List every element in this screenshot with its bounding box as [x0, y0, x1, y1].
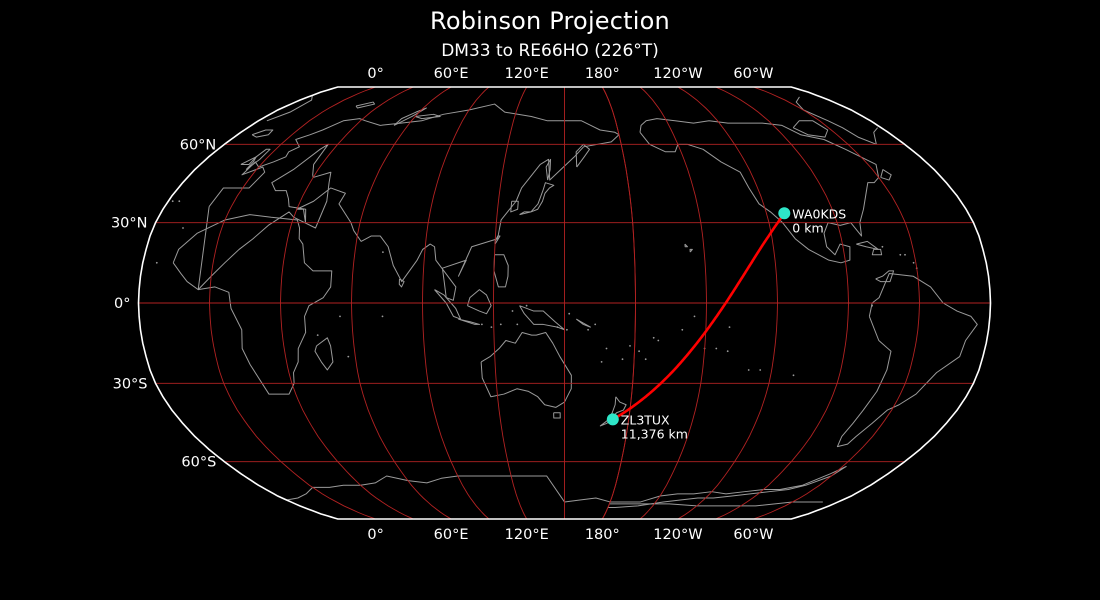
island-speck: [178, 200, 180, 202]
bottom-tick-label-2: 180°: [585, 527, 620, 543]
island-speck: [882, 246, 884, 248]
island-speck: [638, 350, 640, 352]
left-tick-label-4: 60°S: [181, 455, 216, 471]
island-speck: [491, 326, 493, 328]
coastline-3: [874, 128, 878, 145]
top-tick-label-0: 60°E: [434, 66, 469, 82]
island-speck: [568, 313, 570, 315]
bottom-tick-label-1: 120°E: [505, 527, 549, 543]
island-speck: [681, 329, 683, 331]
island-speck: [182, 227, 184, 229]
coastline-17: [876, 271, 894, 282]
island-speck: [899, 254, 901, 256]
left-tick-label-1: 30°N: [111, 216, 148, 232]
marker-wa0kds[interactable]: [778, 207, 790, 219]
island-speck: [557, 326, 559, 328]
coastline-9: [435, 290, 461, 319]
island-speck: [759, 369, 761, 371]
island-speck: [516, 324, 518, 326]
bottom-tick-label-3: 120°W: [653, 527, 702, 543]
island-speck: [317, 334, 319, 336]
island-speck: [339, 316, 341, 318]
top-tick-label-2: 180°: [585, 66, 620, 82]
coastline-4: [252, 130, 273, 137]
coastline-12: [520, 306, 565, 330]
coastline-2: [198, 104, 619, 300]
coastline-8: [494, 255, 508, 287]
coastline-7: [520, 183, 554, 215]
marker-zl3tux-distance: 11,376 km: [621, 426, 688, 441]
island-speck: [587, 329, 589, 331]
left-tick-label-0: 60°N: [180, 137, 217, 153]
island-speck: [653, 337, 655, 339]
bottom-tick-label-5: 0°: [367, 527, 383, 543]
coastline-14: [554, 413, 561, 418]
island-speck: [629, 345, 631, 347]
island-speck: [156, 262, 158, 264]
island-speck: [657, 340, 659, 342]
coastline-35: [685, 244, 688, 247]
coastline-25: [856, 241, 878, 249]
marker-wa0kds-label: WA0KDS: [792, 206, 846, 221]
markers-layer[interactable]: WA0KDS0 kmZL3TUX11,376 km: [607, 206, 847, 441]
left-tick-label-2: 0°: [114, 296, 130, 312]
bottom-tick-label-0: 60°E: [434, 527, 469, 543]
island-speck: [382, 251, 384, 253]
axis-labels-layer: 60°E60°E120°E120°E180°180°120°W120°W60°W…: [111, 66, 773, 543]
top-tick-label-3: 120°W: [653, 66, 702, 82]
island-speck: [601, 361, 603, 363]
coastline-21: [287, 476, 611, 502]
coastline-1: [315, 338, 333, 370]
coastline-19: [837, 274, 977, 447]
island-speck: [694, 316, 696, 318]
island-speck: [715, 348, 717, 350]
island-speck: [748, 369, 750, 371]
coastline-18: [872, 249, 881, 254]
island-speck: [913, 262, 915, 264]
robinson-map[interactable]: WA0KDS0 kmZL3TUX11,376 km 60°E60°E120°E1…: [0, 0, 1100, 600]
marker-zl3tux[interactable]: [607, 413, 619, 425]
island-speck: [622, 358, 624, 360]
bottom-tick-label-4: 60°W: [733, 527, 773, 543]
coastline-26: [576, 319, 590, 327]
coastline-22: [356, 102, 375, 108]
great-circle-path[interactable]: [613, 213, 785, 419]
island-speck: [481, 324, 483, 326]
map-figure: Robinson Projection DM33 to RE66HO (226°…: [0, 0, 1100, 600]
island-speck: [382, 316, 384, 318]
coastline-10: [467, 290, 491, 314]
island-speck: [729, 326, 731, 328]
coastline-3: [267, 95, 313, 120]
island-speck: [512, 310, 514, 312]
marker-wa0kds-distance: 0 km: [792, 220, 823, 235]
coastline-0: [173, 215, 332, 394]
left-tick-label-3: 30°S: [113, 376, 148, 392]
island-speck: [645, 358, 647, 360]
top-tick-label-1: 120°E: [505, 66, 549, 82]
coastline-23: [415, 114, 440, 118]
island-speck: [727, 350, 729, 352]
path-segment[interactable]: [613, 213, 785, 419]
island-speck: [594, 324, 596, 326]
top-tick-label-4: 60°W: [733, 66, 773, 82]
top-tick-label-5: 0°: [367, 66, 383, 82]
island-speck: [871, 305, 873, 307]
coastline-33: [881, 170, 891, 180]
graticule-layer: [139, 87, 991, 519]
island-speck: [347, 356, 349, 358]
island-speck: [793, 374, 795, 376]
marker-zl3tux-label: ZL3TUX: [621, 412, 670, 427]
island-speck: [904, 254, 906, 256]
island-speck: [606, 348, 608, 350]
coastline-11: [458, 319, 479, 324]
island-speck: [500, 324, 502, 326]
coastlines-layer: [156, 95, 977, 507]
island-speck: [566, 329, 568, 331]
island-speck: [172, 200, 174, 202]
island-speck: [526, 305, 528, 307]
coastline-34: [690, 249, 692, 252]
